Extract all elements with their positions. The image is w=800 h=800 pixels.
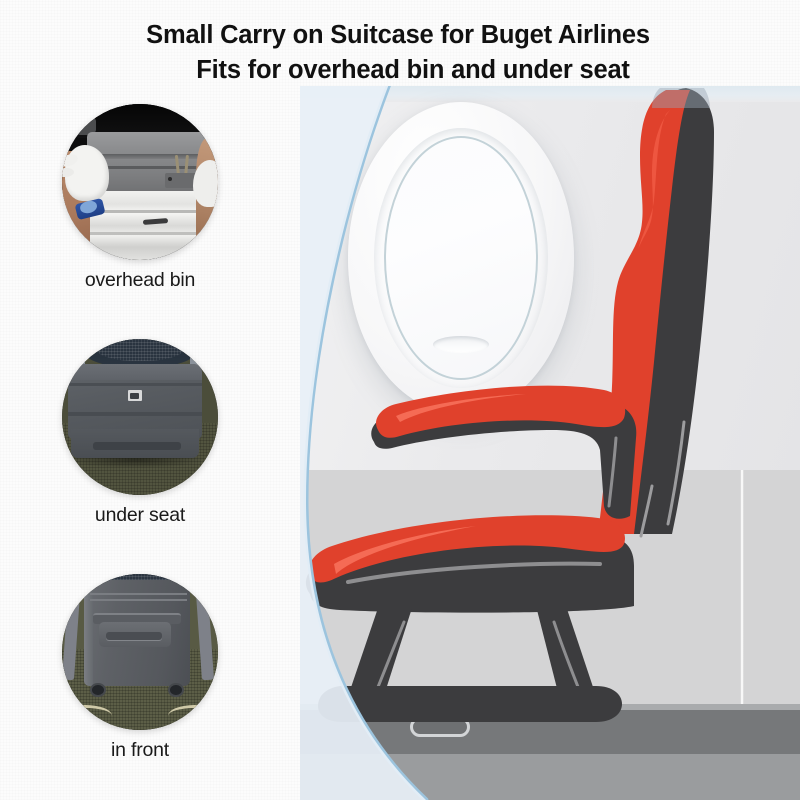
- title-line-1: Small Carry on Suitcase for Buget Airlin…: [0, 18, 800, 53]
- photo-under-seat: [62, 339, 218, 495]
- photo-in-front: [62, 574, 218, 730]
- feature-under-seat: under seat: [40, 339, 240, 527]
- photo-in-front-scene: [62, 574, 218, 730]
- suitcase-lock-dot: [168, 177, 172, 181]
- suitcase-ridge-lower: [68, 412, 202, 416]
- suitcase-ridge-upper: [68, 383, 202, 386]
- seat-frame-arc-right: [168, 705, 218, 727]
- feature-overhead-bin: overhead bin: [40, 104, 240, 292]
- infographic-canvas: Small Carry on Suitcase for Buget Airlin…: [0, 0, 800, 800]
- photo-overhead-bin-scene: [62, 104, 218, 260]
- caption-overhead-bin: overhead bin: [40, 268, 240, 292]
- airplane-cabin-illustration: [300, 86, 800, 800]
- caption-in-front: in front: [40, 738, 240, 762]
- seat-base-bar: [318, 686, 622, 722]
- suitcase-wheel-right: [168, 683, 184, 697]
- page-title: Small Carry on Suitcase for Buget Airlin…: [0, 18, 800, 88]
- photo-under-seat-scene: [62, 339, 218, 495]
- illustration-clip: [300, 86, 800, 800]
- suitcase-top-shell: [68, 364, 202, 380]
- airplane-seat: [300, 86, 800, 800]
- feature-in-front: in front: [40, 574, 240, 762]
- seat-frame-arc-left: [62, 705, 112, 727]
- seat-back-top-tint: [652, 88, 710, 108]
- suitcase-base-slot: [93, 442, 180, 450]
- right-white-glove: [193, 160, 218, 207]
- caption-under-seat: under seat: [40, 503, 240, 527]
- title-line-2: Fits for overhead bin and under seat: [0, 53, 800, 88]
- suitcase-wheel-left: [90, 683, 106, 697]
- suitcase-ridge-a: [90, 593, 187, 595]
- photo-overhead-bin: [62, 104, 218, 260]
- suitcase-handle-grip: [106, 632, 162, 640]
- suitcase-ridge-b: [90, 599, 187, 601]
- suitcase-logo-mark: [130, 393, 139, 400]
- suitcase-left-edge: [84, 580, 93, 686]
